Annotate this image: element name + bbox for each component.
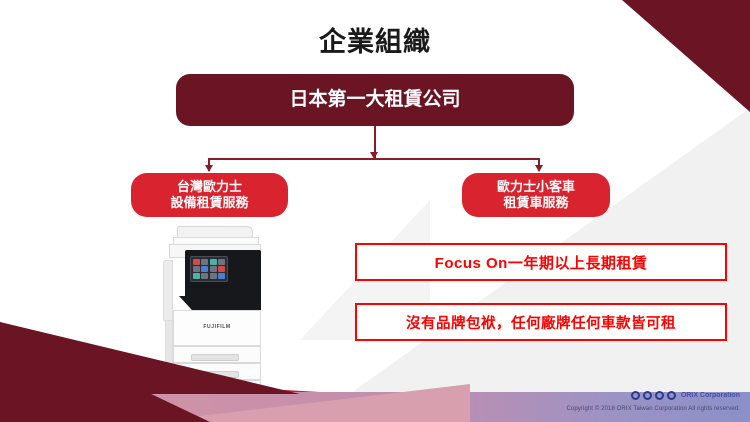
connector-arrow-left [205,165,213,172]
orix-logo: ORIX Corporation [631,391,740,400]
copyright-text: Copyright © 2018 ORIX Taiwan Corporation… [567,406,741,412]
callout-box-no-brand-limit: 沒有品牌包袱，任何廠牌任何車款皆可租 [355,303,727,341]
logo-ring-icon-2 [643,391,652,400]
logo-ring-icon-4 [667,391,676,400]
org-node-left-label-line1: 台灣歐力士 [170,179,248,195]
org-node-root: 日本第一大租賃公司 [176,74,574,126]
org-node-left-label-line2: 設備租賃服務 [170,195,248,211]
slide-title: 企業組織 [0,20,750,59]
slide-canvas: 企業組織 日本第一大租賃公司 台灣歐力士 設備租賃服務 歐力士小客車 租賃車服務… [0,0,750,422]
printer-touchscreen-icons [193,259,225,279]
printer-caster-4 [249,414,256,422]
org-node-right-label-line1: 歐力士小客車 [497,179,575,195]
connector-arrow-right [535,165,543,172]
org-node-right: 歐力士小客車 租賃車服務 [462,173,610,217]
printer-side-panel-lower [165,320,173,378]
printer-brand-label: FUJIFILM [193,324,241,331]
printer-illustration: FUJIFILM [163,226,273,401]
logo-text: ORIX Corporation [681,392,740,399]
org-node-right-label-line2: 租賃車服務 [497,195,575,211]
connector-horizontal [208,158,540,160]
printer-tray-handle-1 [191,354,239,361]
org-node-left: 台灣歐力士 設備租賃服務 [131,173,288,217]
printer-caster-2 [206,414,213,422]
callout-box-focus-on: Focus On一年期以上長期租賃 [355,243,727,281]
printer-tray-handle-3 [191,388,239,395]
callout-box-focus-on-text: Focus On一年期以上長期租賃 [435,252,648,273]
printer-foot-1 [187,418,204,422]
printer-foot-2 [229,418,246,422]
printer-tray-handle-2 [191,371,239,378]
org-node-root-label: 日本第一大租賃公司 [289,88,460,112]
logo-ring-icon-3 [655,391,664,400]
printer-caster-1 [179,414,186,422]
printer-side-panel [163,260,173,322]
logo-ring-icon-1 [631,391,640,400]
printer-tray-handle-4 [191,405,239,412]
callout-box-no-brand-limit-text: 沒有品牌包袱，任何廠牌任何車款皆可租 [406,312,676,333]
